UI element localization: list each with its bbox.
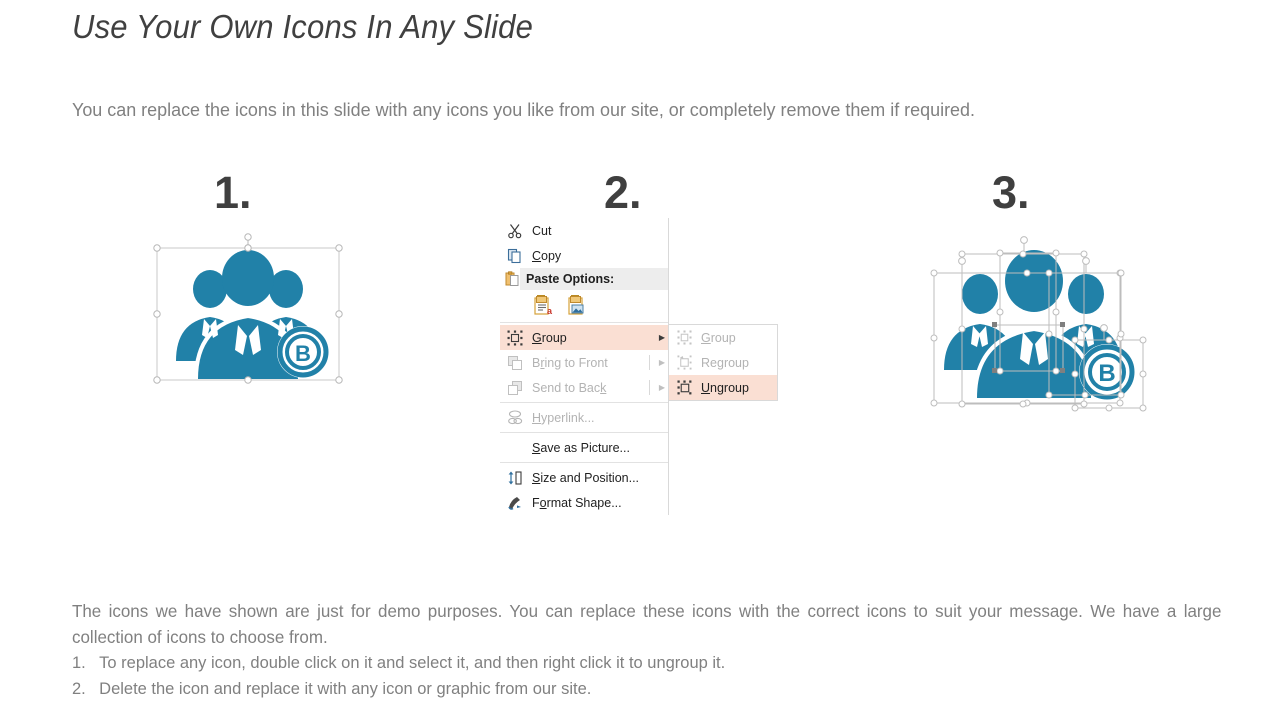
send-to-back-icon	[504, 378, 526, 398]
handle-middle-left[interactable]	[154, 311, 160, 317]
paste-clipboard-icon	[504, 271, 520, 287]
handle-top-right[interactable]	[336, 245, 342, 251]
menu-item-bring-to-front[interactable]: Bring to Front ▶	[500, 350, 668, 375]
paste-picture-icon[interactable]	[566, 294, 588, 316]
menu-item-label: Format Shape...	[532, 496, 668, 510]
list-item-text: Delete the icon and replace it with any …	[99, 676, 591, 702]
submenu-divider	[649, 355, 650, 370]
svg-text:B: B	[1098, 360, 1115, 387]
list-item: 2. Delete the icon and replace it with a…	[72, 676, 1221, 702]
list-item-number: 1.	[72, 650, 89, 676]
menu-item-paste-options: Paste Options:	[500, 268, 668, 290]
people-group-icon-selected[interactable]: B	[148, 233, 348, 385]
menu-separator	[500, 462, 668, 463]
menu-item-send-to-back[interactable]: Send to Back ▶	[500, 375, 668, 400]
menu-item-hyperlink[interactable]: Hyperlink...	[500, 405, 668, 430]
copy-icon	[504, 246, 526, 266]
menu-item-label: Send to Back	[532, 381, 656, 395]
footer-block: The icons we have shown are just for dem…	[72, 598, 1221, 702]
scissors-icon	[504, 221, 526, 241]
handle-bottom-left[interactable]	[154, 377, 160, 383]
submenu-item-label: Regroup	[701, 356, 777, 370]
handle-top-left[interactable]	[154, 245, 160, 251]
step-number-1: 1.	[214, 170, 252, 215]
paste-keep-text-icon[interactable]: a	[532, 294, 554, 316]
right-click-context-menu[interactable]: Cut Copy Paste Options:	[500, 218, 669, 515]
list-item: 1. To replace any icon, double click on …	[72, 650, 1221, 676]
submenu-item-group[interactable]: Group	[669, 325, 777, 350]
chevron-right-icon: ▶	[656, 333, 668, 342]
submenu-item-label: Ungroup	[701, 381, 777, 395]
menu-item-label: Group	[532, 331, 656, 345]
step-number-3: 3.	[992, 170, 1030, 215]
menu-item-group[interactable]: Group ▶	[500, 325, 668, 350]
menu-item-label: Size and Position...	[532, 471, 668, 485]
handle-middle-right[interactable]	[336, 311, 342, 317]
regroup-icon	[673, 353, 695, 373]
submenu-item-label: Group	[701, 331, 777, 345]
menu-item-save-as-picture[interactable]: Save as Picture...	[500, 435, 668, 460]
submenu-item-regroup[interactable]: Regroup	[669, 350, 777, 375]
group-icon	[673, 328, 695, 348]
footer-paragraph: The icons we have shown are just for dem…	[72, 598, 1221, 650]
hyperlink-icon	[504, 408, 526, 428]
menu-separator	[500, 432, 668, 433]
menu-item-label: Bring to Front	[532, 356, 656, 370]
submenu-divider	[649, 380, 650, 395]
chevron-right-icon: ▶	[656, 383, 668, 392]
format-shape-icon	[504, 493, 526, 513]
handle-top-center[interactable]	[245, 245, 251, 251]
menu-item-size-and-position[interactable]: Size and Position...	[500, 465, 668, 490]
chevron-right-icon: ▶	[656, 358, 668, 367]
paste-options-row[interactable]: a	[500, 290, 668, 320]
paste-options-label: Paste Options:	[520, 268, 668, 290]
b-badge-icon: B	[277, 326, 329, 378]
list-item-number: 2.	[72, 676, 89, 702]
bring-to-front-icon	[504, 353, 526, 373]
step-number-2: 2.	[604, 170, 642, 215]
menu-item-label: Save as Picture...	[532, 441, 668, 455]
handle-bottom-right[interactable]	[336, 377, 342, 383]
menu-item-label: Hyperlink...	[532, 411, 668, 425]
list-item-text: To replace any icon, double click on it …	[99, 650, 725, 676]
menu-item-cut[interactable]: Cut	[500, 218, 668, 243]
menu-item-label: Copy	[532, 249, 668, 263]
svg-text:B: B	[295, 341, 311, 366]
people-group-icon-ungrouped[interactable]: B	[920, 226, 1156, 416]
menu-item-copy[interactable]: Copy	[500, 243, 668, 268]
footer-list: 1. To replace any icon, double click on …	[72, 650, 1221, 702]
b-badge-icon: B	[1079, 344, 1135, 400]
menu-separator	[500, 402, 668, 403]
svg-text:a: a	[547, 306, 553, 316]
menu-item-label: Cut	[532, 224, 668, 238]
handle-bottom-center[interactable]	[245, 377, 251, 383]
menu-separator	[500, 322, 668, 323]
group-icon	[504, 328, 526, 348]
group-submenu[interactable]: Group Regroup	[668, 324, 778, 401]
size-position-icon	[504, 468, 526, 488]
ungroup-icon	[673, 378, 695, 398]
page-title: Use Your Own Icons In Any Slide	[72, 8, 533, 46]
intro-paragraph: You can replace the icons in this slide …	[72, 95, 1154, 125]
menu-item-format-shape[interactable]: Format Shape...	[500, 490, 668, 515]
submenu-item-ungroup[interactable]: Ungroup	[669, 375, 777, 400]
